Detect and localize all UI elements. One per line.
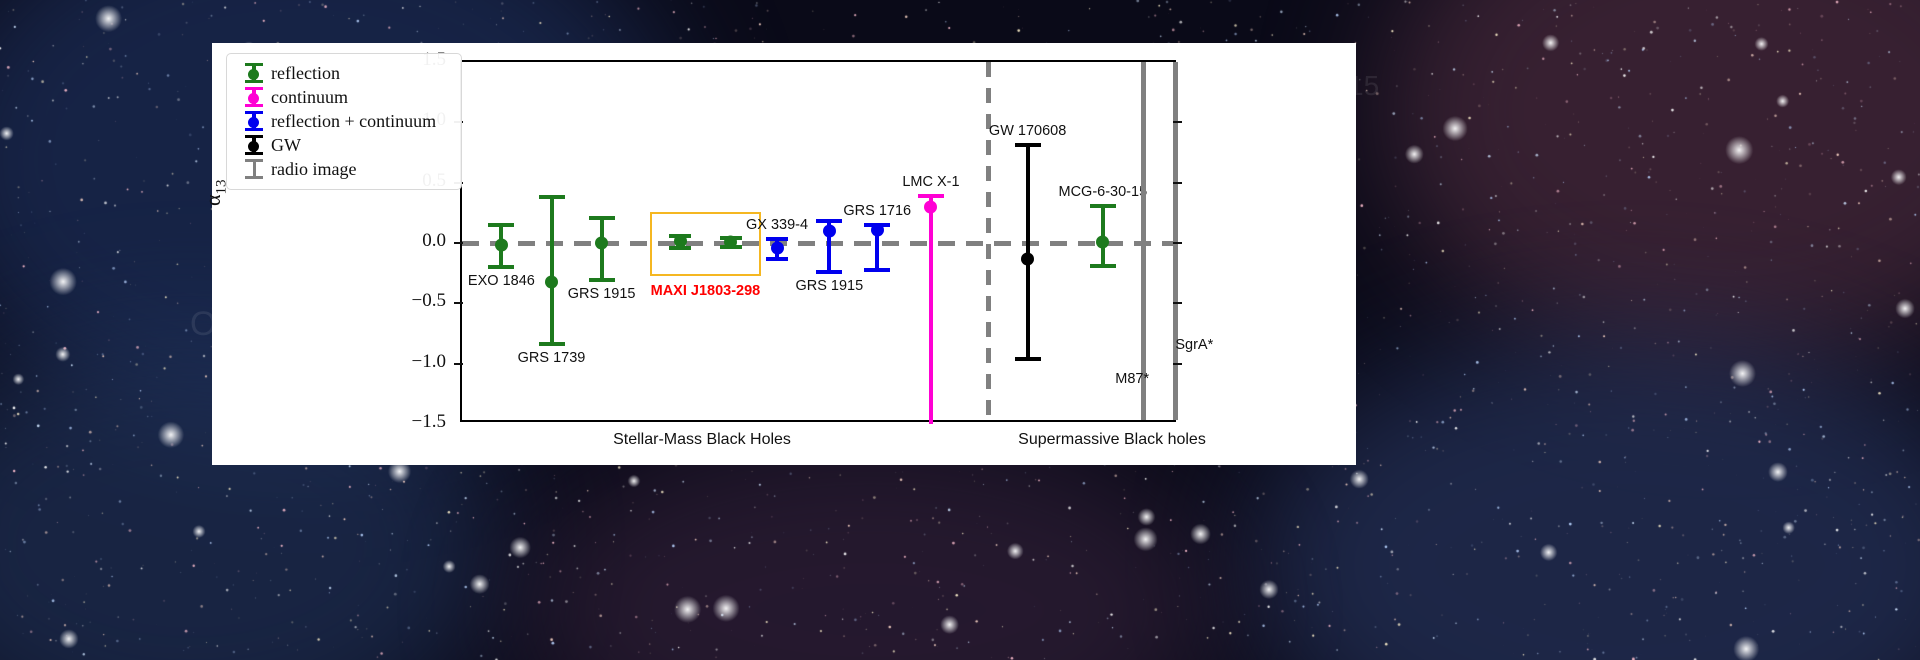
data-point-marker [1096, 235, 1109, 248]
errorbar-cap-upper [1015, 143, 1041, 147]
legend-item-label: GW [271, 135, 301, 156]
data-point-label: LMC X-1 [902, 174, 959, 190]
data-point-label: SgrA* [1175, 337, 1213, 353]
x-caption-supermassive: Supermassive Black holes [1018, 431, 1206, 449]
legend: reflectioncontinuumreflection + continuu… [226, 53, 462, 190]
errorbar-cap-upper [488, 223, 514, 227]
data-point-marker [674, 234, 687, 247]
errorbar-cap-upper [816, 219, 842, 223]
data-point-marker [823, 224, 836, 237]
legend-item-radio-image: radio image [237, 157, 451, 181]
y-tick-mark [1173, 121, 1182, 123]
highlight-box-label: MAXI J1803-298 [651, 283, 761, 299]
errorbar-cap-upper [918, 194, 944, 198]
data-point-marker [545, 275, 558, 288]
errorbar-cap-lower [539, 342, 565, 346]
data-point-marker [1021, 252, 1034, 265]
legend-symbol-icon [237, 86, 271, 108]
legend-symbol-icon [237, 158, 271, 180]
data-point-label: GX 339-4 [746, 217, 808, 233]
y-tick-label: −0.5 [386, 290, 446, 312]
legend-item-reflection: reflection [237, 61, 451, 85]
legend-symbol-icon [237, 62, 271, 84]
y-tick-mark [1173, 242, 1182, 244]
data-point-marker [595, 237, 608, 250]
data-point-label: GRS 1716 [843, 203, 911, 219]
legend-item-label: continuum [271, 87, 348, 108]
legend-symbol-icon [237, 110, 271, 132]
radio-image-vertical-bar [1141, 62, 1146, 420]
data-point-marker [771, 241, 784, 254]
legend-item-label: reflection + continuum [271, 111, 436, 132]
y-tick-label: 0.0 [386, 230, 446, 252]
data-point-label: MCG-6-30-15 [1058, 184, 1147, 200]
y-tick-mark [1173, 363, 1182, 365]
legend-item-continuum: continuum [237, 85, 451, 109]
errorbar-cap-lower [1015, 357, 1041, 361]
errorbar-cap-lower [816, 270, 842, 274]
legend-item-label: radio image [271, 159, 356, 180]
data-point-marker [495, 239, 508, 252]
legend-item-gw: GW [237, 133, 451, 157]
zero-reference-line [462, 241, 1174, 246]
errorbar-cap-lower [589, 278, 615, 282]
errorbar-cap-upper [589, 216, 615, 220]
data-point-marker [871, 223, 884, 236]
legend-item-reflection-continuum: reflection + continuum [237, 109, 451, 133]
data-point-label: M87* [1115, 371, 1149, 387]
figure-panel: α13 1.51.00.50.0−0.5−1.0−1.5 MAXI J1803-… [212, 43, 1356, 465]
errorbar-cap-lower [1090, 264, 1116, 268]
x-caption-stellar: Stellar-Mass Black Holes [613, 431, 791, 449]
data-point-label: GRS 1739 [518, 350, 586, 366]
y-tick-mark [454, 242, 463, 244]
errorbar-line [929, 196, 933, 424]
y-axis-label-text: α [200, 194, 225, 206]
data-point-label: GRS 1915 [568, 286, 636, 302]
y-tick-mark [1173, 302, 1182, 304]
y-tick-mark [1173, 182, 1182, 184]
data-point-marker [724, 236, 737, 249]
errorbar-cap-upper [1090, 204, 1116, 208]
highlight-box [650, 212, 762, 276]
radio-image-vertical-bar [1173, 62, 1178, 420]
errorbar-line [550, 197, 554, 344]
y-tick-label: −1.0 [386, 351, 446, 373]
data-point-marker [924, 200, 937, 213]
errorbar-cap-lower [488, 265, 514, 269]
legend-item-label: reflection [271, 63, 340, 84]
data-point-label: GW 170608 [989, 123, 1066, 139]
data-point-label: EXO 1846 [468, 273, 535, 289]
legend-symbol-icon [237, 134, 271, 156]
plot-axes: MAXI J1803-298EXO 1846GRS 1739GRS 1915GX… [460, 60, 1176, 422]
data-point-label: GRS 1915 [795, 278, 863, 294]
errorbar-cap-lower [864, 268, 890, 272]
errorbar-cap-upper [539, 195, 565, 199]
group-separator-line [986, 62, 991, 420]
y-tick-label: −1.5 [386, 411, 446, 433]
errorbar-cap-lower [766, 257, 788, 261]
y-tick-mark [454, 302, 463, 304]
y-tick-mark [454, 363, 463, 365]
